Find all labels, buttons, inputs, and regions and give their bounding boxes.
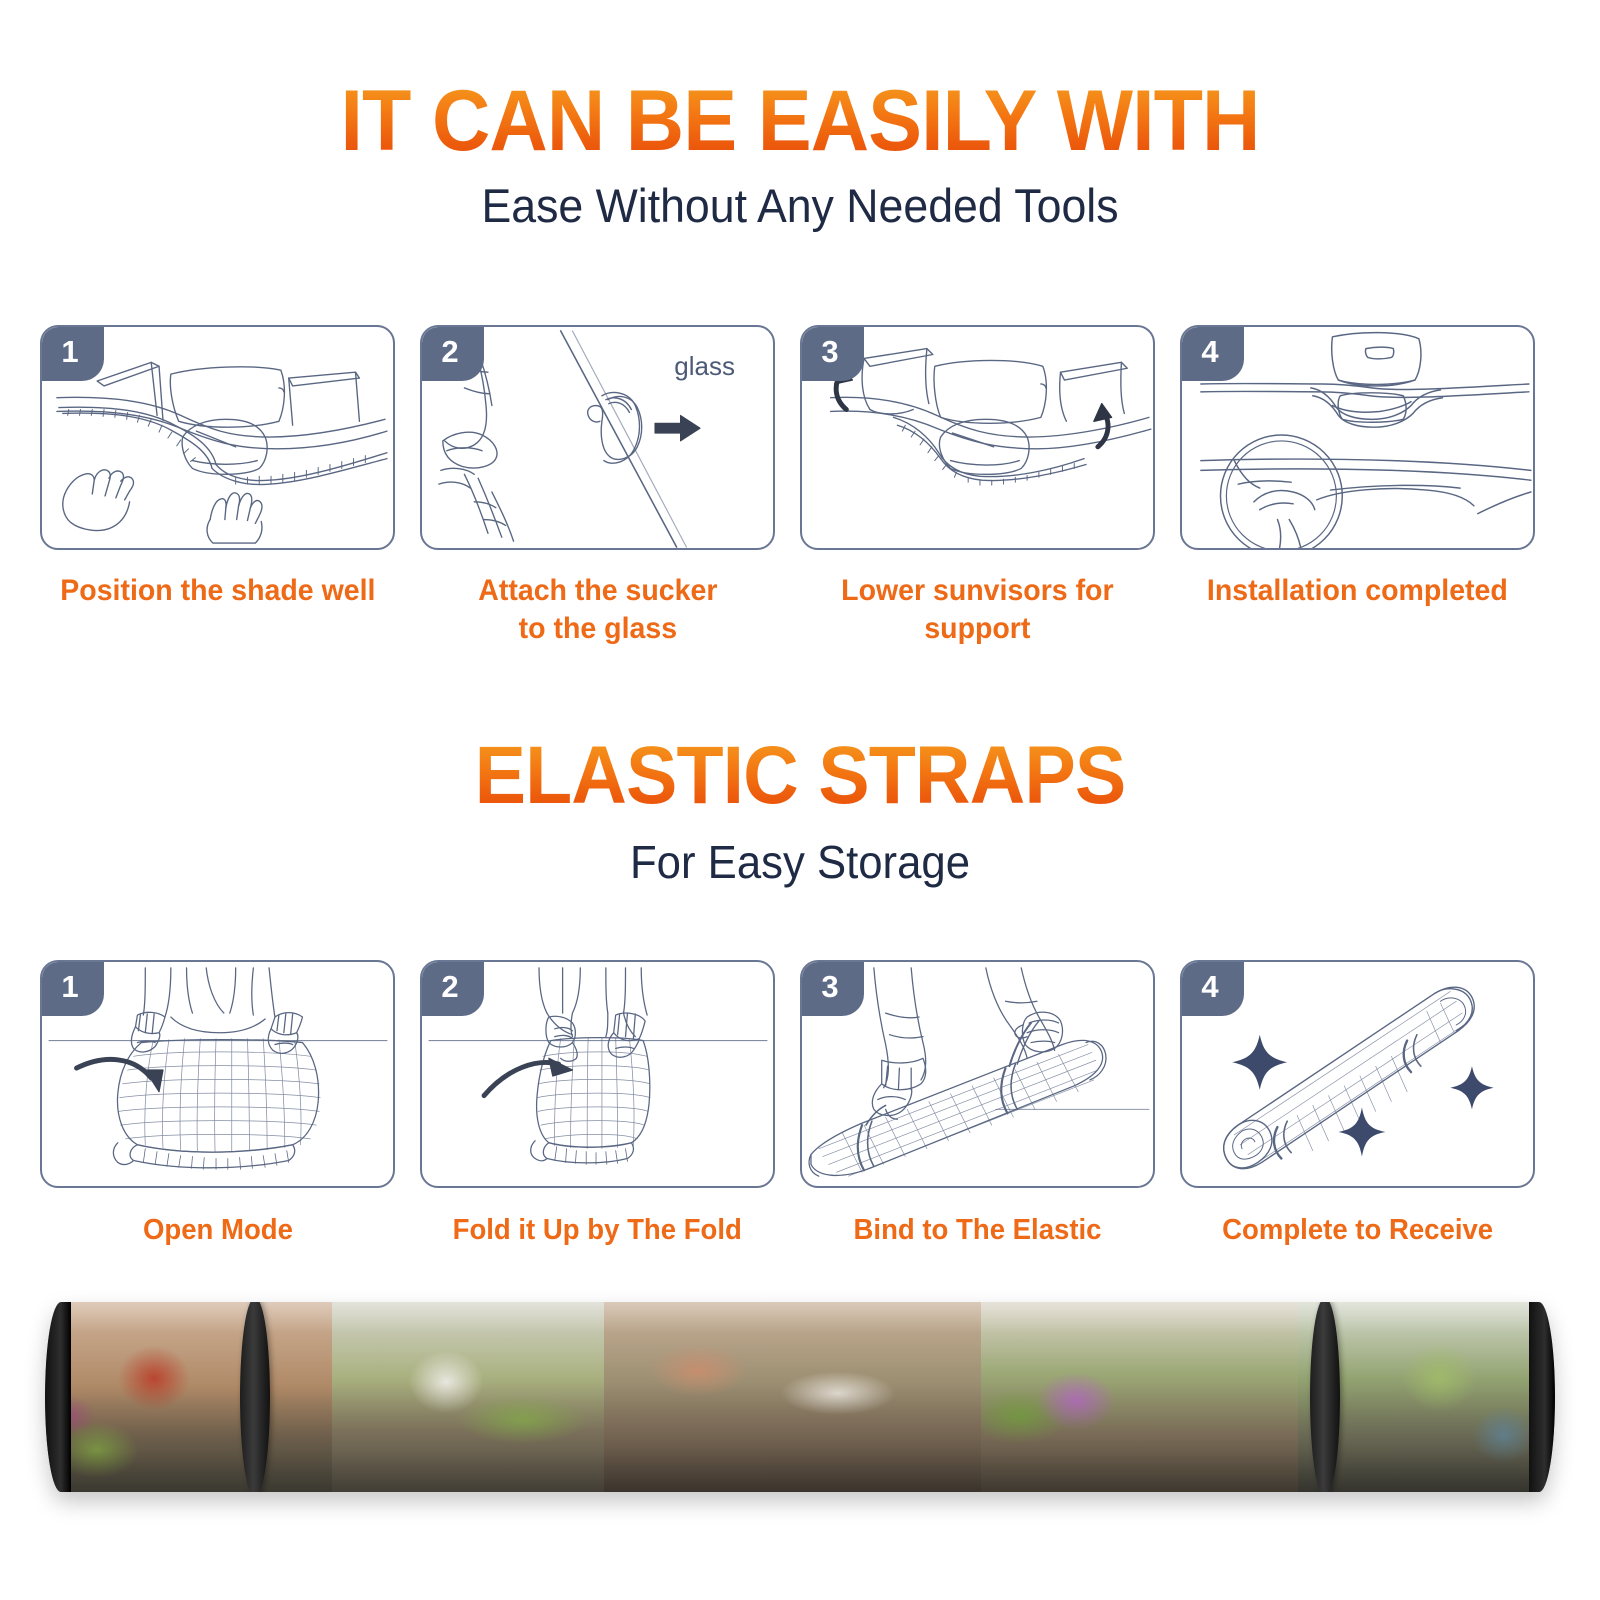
installation-steps-row: 1 [40,325,1560,647]
storage-step-caption-2: Fold it Up by The Fold [453,1212,742,1248]
rolled-sunshade-product [45,1302,1555,1492]
step-card-4: 4 [1180,325,1535,647]
step-caption-4: Installation completed [1207,572,1508,610]
storage-step-panel-2: 2 [420,960,775,1188]
storage-step-number-badge-3: 3 [802,962,864,1016]
step-caption-2: Attach the sucker to the glass [478,572,717,647]
step-caption-3: Lower sunvisors for support [841,572,1113,647]
section-1-subhead: Ease Without Any Needed Tools [40,178,1560,233]
scene-fountain-and-lawn [332,1302,604,1492]
storage-step-card-2: 2 [420,960,775,1248]
storage-step-card-3: 3 [800,960,1155,1248]
scene-hydrangeas-stone-path [981,1302,1298,1492]
storage-step-card-4: 4 [1180,960,1535,1248]
step-card-1: 1 [40,325,395,647]
section-1-headline: IT CAN BE EASILY WITH [48,78,1552,164]
section-2-header: ELASTIC STRAPS For Easy Storage [0,735,1600,889]
section-2-subhead: For Easy Storage [40,835,1560,889]
storage-step-number-badge-4: 4 [1182,962,1244,1016]
storage-step-panel-3: 3 [800,960,1155,1188]
elastic-strap-2 [1310,1302,1340,1492]
scene-cobblestone-street [604,1302,982,1492]
storage-step-caption-4: Complete to Receive [1222,1212,1493,1248]
storage-step-caption-1: Open Mode [142,1212,292,1248]
storage-step-number-badge-1: 1 [42,962,104,1016]
roll-end-cap-left [45,1302,71,1492]
step-number-badge-2: 2 [422,327,484,381]
section-1-header: IT CAN BE EASILY WITH Ease Without Any N… [0,78,1600,233]
storage-steps-row: 1 [40,960,1560,1248]
step-number-badge-4: 4 [1182,327,1244,381]
step-card-3: 3 [800,325,1155,647]
step-panel-4: 4 [1180,325,1535,550]
section-2-headline: ELASTIC STRAPS [48,735,1552,817]
storage-step-number-badge-2: 2 [422,962,484,1016]
storage-step-card-1: 1 [40,960,395,1248]
product-photo-strip [45,1302,1555,1492]
step-number-badge-1: 1 [42,327,104,381]
storage-step-panel-4: 4 [1180,960,1535,1188]
step-caption-3-text: Lower sunvisors for support [841,574,1113,645]
glass-label: glass [674,351,735,382]
storage-step-caption-3: Bind to The Elastic [854,1212,1102,1248]
step-number-badge-3: 3 [802,327,864,381]
step-panel-1: 1 [40,325,395,550]
step-caption-2-text: Attach the sucker to the glass [478,574,717,645]
step-panel-2: 2 glass [420,325,775,550]
step-caption-1: Position the shade well [60,572,375,610]
step-card-2: 2 glass [420,325,775,647]
infographic-page: IT CAN BE EASILY WITH Ease Without Any N… [0,0,1600,1600]
scene-courtyard-with-flowers [45,1302,332,1492]
elastic-strap-1 [240,1302,270,1492]
storage-step-panel-1: 1 [40,960,395,1188]
step-panel-3: 3 [800,325,1155,550]
